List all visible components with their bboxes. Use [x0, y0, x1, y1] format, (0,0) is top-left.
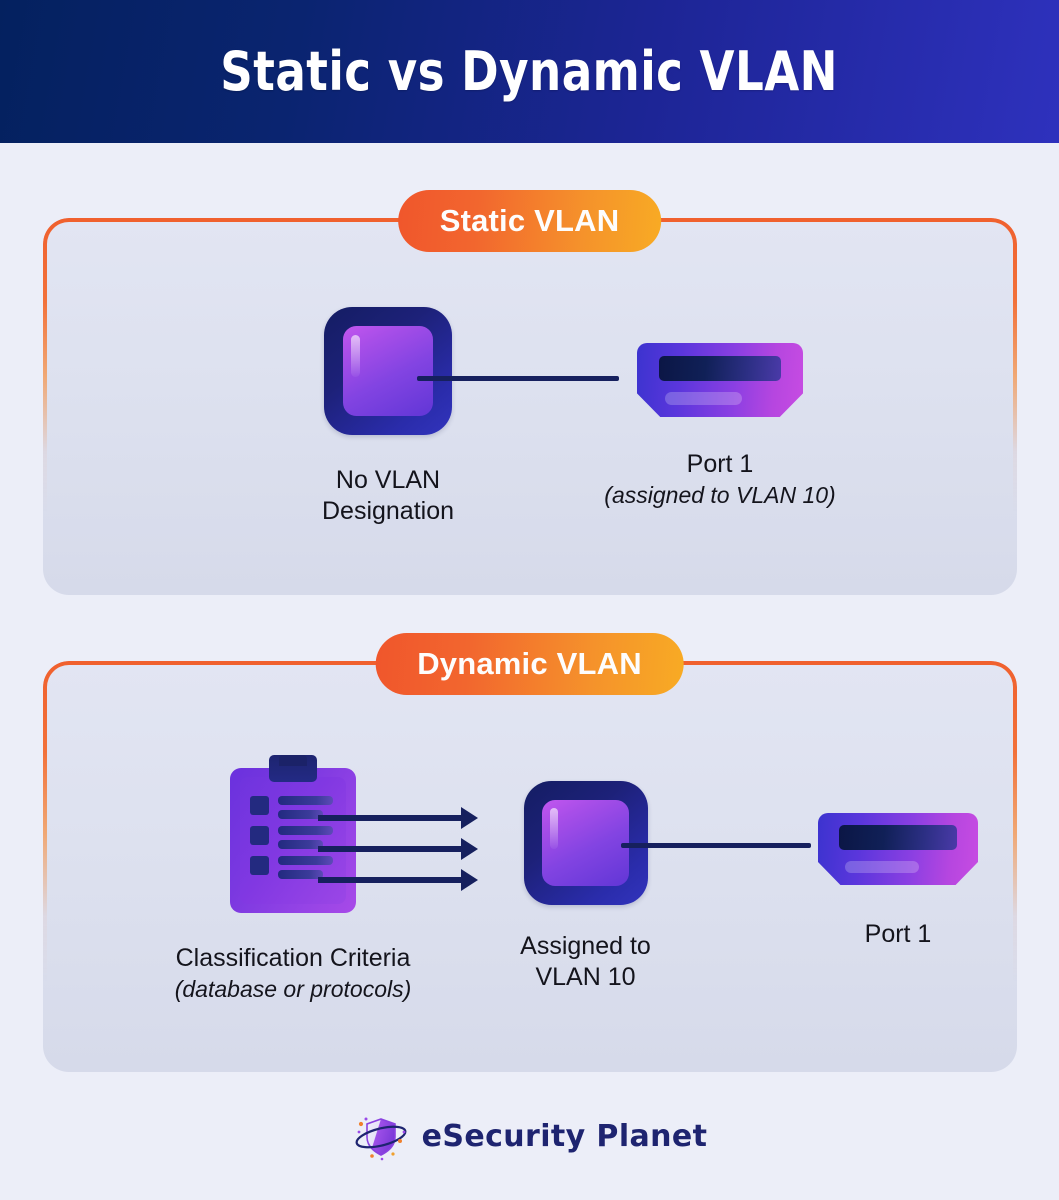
node-label: Port 1: [865, 919, 932, 950]
node-label: Port 1: [687, 449, 754, 480]
page-title: Static vs Dynamic VLAN: [221, 40, 839, 103]
shield-orbit-logo-svg: [352, 1110, 410, 1162]
arrow-shaft: [318, 877, 462, 883]
clipboard-checkbox: [250, 856, 269, 875]
node-label-line2: VLAN 10: [535, 962, 635, 993]
vlan-box-icon: [324, 307, 452, 435]
node-label: No VLAN: [336, 465, 440, 496]
dynamic-vlan-card: Classification Criteria (database or pro…: [43, 661, 1017, 1072]
node-label: Assigned to: [520, 931, 651, 962]
node-label: Classification Criteria: [176, 943, 411, 974]
network-port-slot: [839, 825, 957, 850]
network-port-icon: [818, 813, 978, 885]
clipboard-clip-top: [279, 755, 307, 766]
clipboard-text-line: [278, 810, 323, 819]
node-assigned-to-vlan-10: Assigned to VLAN 10: [453, 781, 718, 993]
clipboard-text-line: [278, 840, 323, 849]
page-header-banner: Static vs Dynamic VLAN: [0, 0, 1059, 143]
clipboard-text-line: [278, 826, 333, 835]
clipboard-text-line: [278, 870, 323, 879]
node-no-vlan-designation: No VLAN Designation: [293, 307, 483, 527]
vlan-box-highlight: [351, 335, 360, 377]
node-port-1-dynamic: Port 1: [748, 813, 1048, 950]
badge-label: Static VLAN: [440, 203, 620, 239]
node-sublabel: (database or protocols): [175, 974, 412, 1004]
footer-brand: eSecurity Planet: [0, 1104, 1059, 1168]
network-port-tab: [665, 392, 741, 405]
shield-orbit-logo-icon: [352, 1110, 410, 1162]
static-vlan-card: No VLAN Designation Port 1 (assigned to …: [43, 218, 1017, 595]
arrow-shaft: [318, 815, 462, 821]
network-port-slot: [659, 356, 782, 382]
node-sublabel: (assigned to VLAN 10): [604, 480, 835, 510]
node-label-line2: Designation: [322, 496, 454, 527]
node-port-1-static: Port 1 (assigned to VLAN 10): [555, 343, 885, 510]
vlan-box-highlight: [550, 808, 559, 849]
clipboard-checkbox: [250, 826, 269, 845]
clipboard-text-line: [278, 796, 333, 805]
arrow-shaft: [318, 846, 462, 852]
brand-name: eSecurity Planet: [422, 1119, 708, 1154]
dynamic-vlan-badge: Dynamic VLAN: [375, 633, 684, 695]
badge-label: Dynamic VLAN: [417, 646, 642, 682]
clipboard-text-line: [278, 856, 333, 865]
static-vlan-badge: Static VLAN: [398, 190, 662, 252]
network-port-tab: [845, 861, 919, 874]
network-port-icon: [637, 343, 803, 417]
clipboard-criteria-icon: [230, 755, 356, 913]
clipboard-checkbox: [250, 796, 269, 815]
